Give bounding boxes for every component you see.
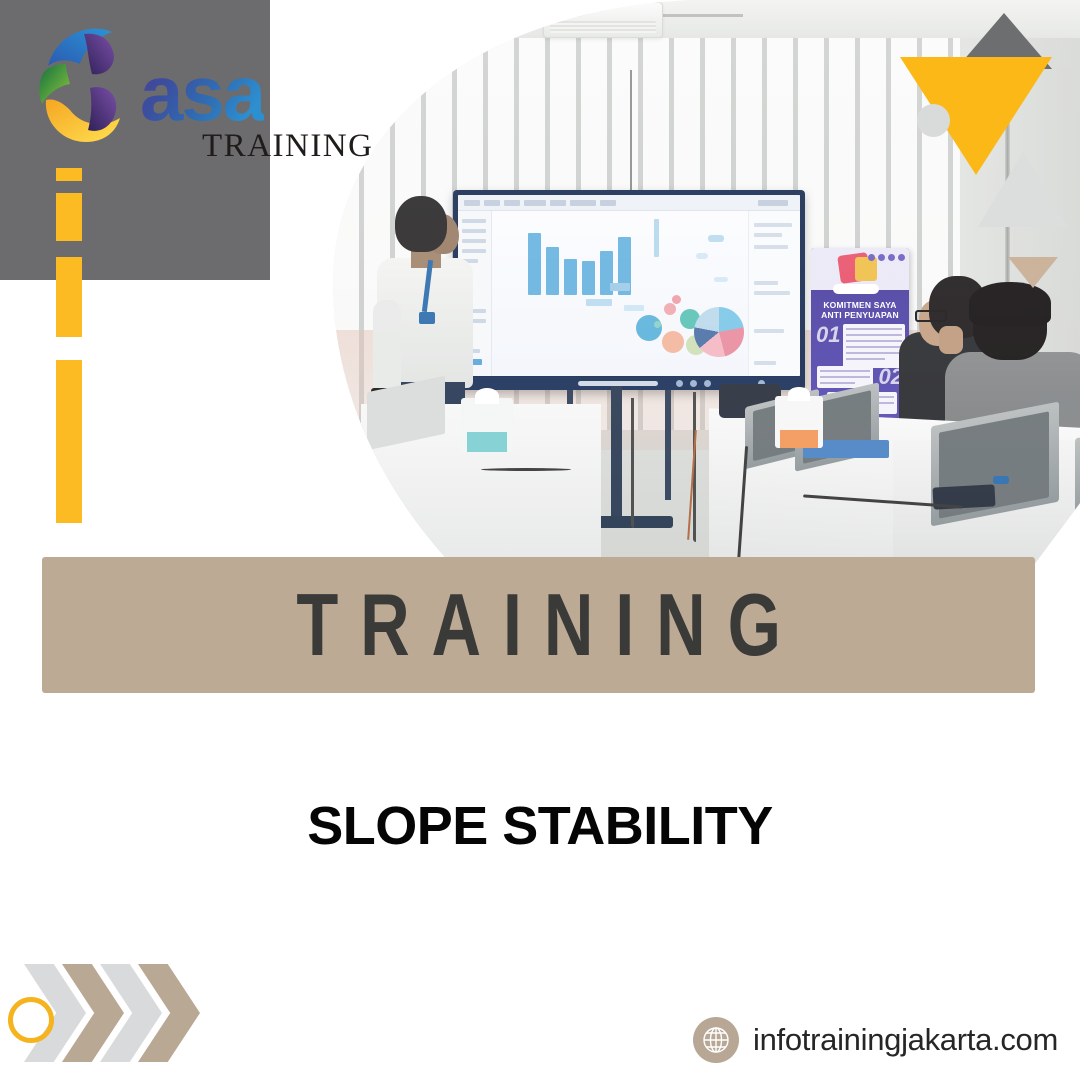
screen-stand-post bbox=[611, 386, 622, 524]
presentation-screen bbox=[453, 190, 805, 390]
screen-stand-leg bbox=[665, 390, 671, 500]
dashboard-ribbon bbox=[458, 195, 800, 211]
standee-title-line2: ANTI PENYUAPAN bbox=[815, 310, 905, 320]
participant-b-hair bbox=[969, 282, 1051, 326]
air-conditioner-icon bbox=[543, 2, 663, 38]
website-link[interactable]: infotrainingjakarta.com bbox=[693, 1016, 1058, 1064]
circle-outline-icon bbox=[8, 997, 54, 1043]
dash-segment bbox=[56, 193, 82, 241]
website-url: infotrainingjakarta.com bbox=[753, 1022, 1058, 1058]
logo-wordmark: asa bbox=[140, 54, 264, 132]
dash-segment bbox=[56, 257, 82, 337]
tissue-box bbox=[775, 396, 823, 448]
presenter-badge bbox=[419, 312, 435, 324]
course-title: SLOPE STABILITY bbox=[0, 795, 1080, 857]
poster-canvas: KOMITMEN SAYA ANTI PENYUAPAN 01 02 bbox=[0, 0, 1080, 1080]
screen-cable bbox=[631, 398, 634, 528]
standee-item-1-number: 01 bbox=[816, 322, 840, 348]
dash-segment bbox=[56, 168, 82, 181]
circle-icon bbox=[917, 104, 950, 137]
triangle-up-icon bbox=[978, 152, 1068, 227]
training-banner: TRAINING bbox=[42, 557, 1035, 693]
participant-a-hand bbox=[939, 326, 963, 354]
triangle-down-icon bbox=[1008, 257, 1058, 288]
participant-a-glasses bbox=[915, 310, 947, 322]
tissue-box bbox=[461, 398, 513, 452]
banner-title: TRAINING bbox=[274, 574, 802, 676]
dash-segment bbox=[56, 360, 82, 523]
globe-icon bbox=[693, 1017, 739, 1063]
presenter-head bbox=[395, 196, 447, 252]
dashboard-pie-chart bbox=[694, 307, 744, 357]
dashboard-right-pane bbox=[748, 211, 800, 376]
logo-tagline: TRAINING bbox=[202, 128, 373, 165]
standee-title-line1: KOMITMEN SAYA bbox=[815, 300, 905, 310]
brand-logo[interactable]: asa TRAINING bbox=[30, 18, 350, 178]
